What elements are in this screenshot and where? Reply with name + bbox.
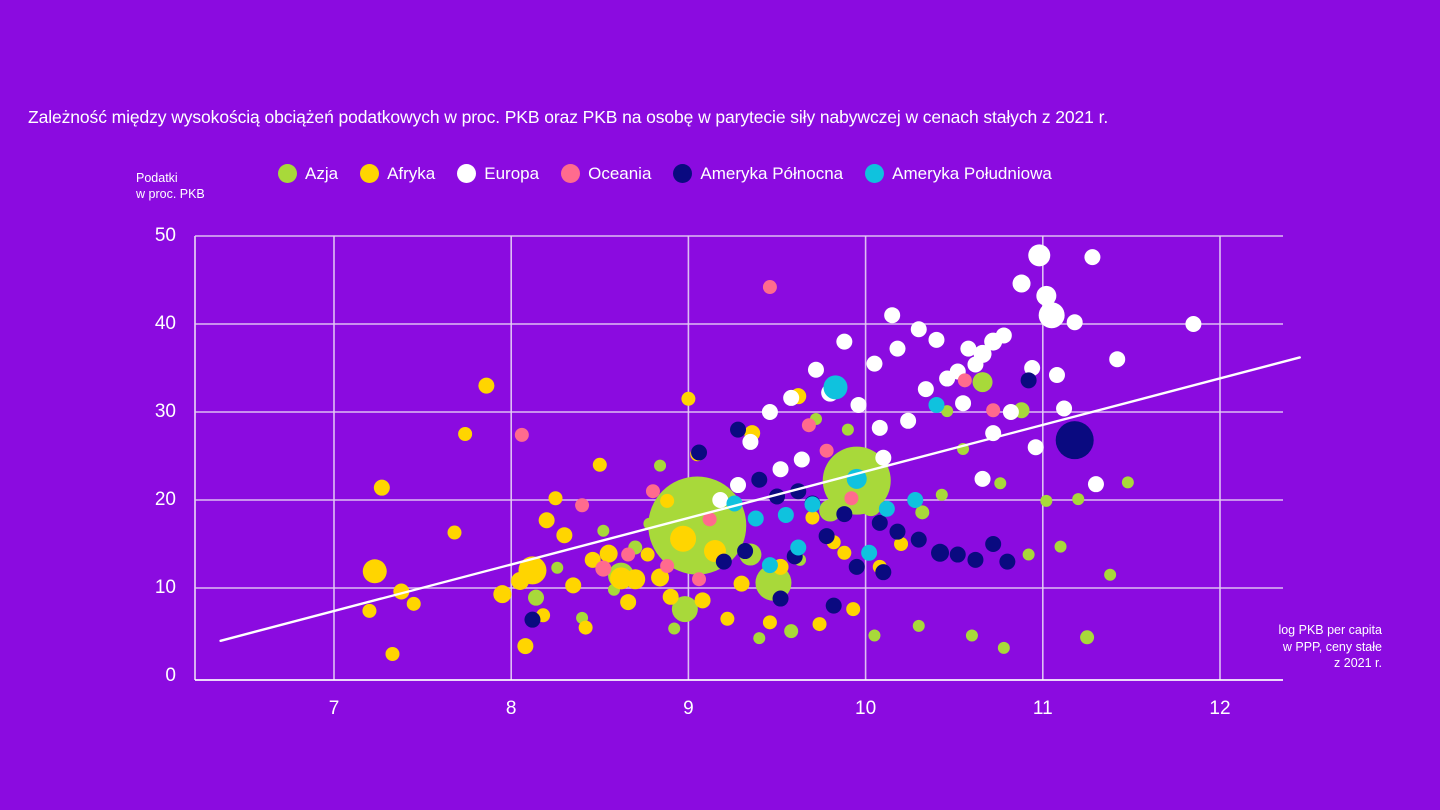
data-point[interactable] bbox=[620, 594, 636, 610]
data-point[interactable] bbox=[939, 371, 955, 387]
data-point[interactable] bbox=[695, 592, 711, 608]
data-point[interactable] bbox=[820, 444, 834, 458]
data-point[interactable] bbox=[911, 532, 927, 548]
data-point[interactable] bbox=[641, 548, 655, 562]
data-point[interactable] bbox=[1003, 404, 1019, 420]
data-point[interactable] bbox=[875, 450, 891, 466]
data-point[interactable] bbox=[1122, 476, 1134, 488]
data-point[interactable] bbox=[681, 392, 695, 406]
data-point[interactable] bbox=[742, 434, 758, 450]
data-point[interactable] bbox=[646, 484, 660, 498]
data-point[interactable] bbox=[813, 617, 827, 631]
data-point[interactable] bbox=[966, 630, 978, 642]
data-point[interactable] bbox=[842, 424, 854, 436]
data-point[interactable] bbox=[1049, 367, 1065, 383]
data-point[interactable] bbox=[808, 362, 824, 378]
data-point[interactable] bbox=[524, 612, 540, 628]
data-point[interactable] bbox=[950, 547, 966, 563]
data-point[interactable] bbox=[866, 356, 882, 372]
data-point[interactable] bbox=[844, 491, 858, 505]
grid-lines bbox=[195, 236, 1283, 680]
data-point[interactable] bbox=[595, 561, 611, 577]
chart-page: Zależność między wysokością obciążeń pod… bbox=[0, 0, 1440, 810]
data-point[interactable] bbox=[600, 545, 618, 563]
data-point[interactable] bbox=[804, 496, 820, 512]
data-point[interactable] bbox=[517, 638, 533, 654]
data-point[interactable] bbox=[790, 540, 806, 556]
data-point[interactable] bbox=[730, 422, 746, 438]
data-point[interactable] bbox=[374, 480, 390, 496]
data-point[interactable] bbox=[999, 554, 1015, 570]
data-point[interactable] bbox=[911, 321, 927, 337]
series-europa bbox=[712, 244, 1201, 508]
data-point[interactable] bbox=[556, 527, 572, 543]
data-point[interactable] bbox=[918, 381, 934, 397]
data-points bbox=[362, 244, 1201, 661]
data-point[interactable] bbox=[879, 501, 895, 517]
data-point[interactable] bbox=[1072, 493, 1084, 505]
data-point[interactable] bbox=[751, 472, 767, 488]
plot-area: 01020304050789101112 bbox=[0, 0, 1440, 810]
data-point[interactable] bbox=[967, 356, 983, 372]
data-point[interactable] bbox=[551, 562, 563, 574]
data-point[interactable] bbox=[936, 489, 948, 501]
x-tick-label-10: 10 bbox=[855, 698, 876, 719]
data-point[interactable] bbox=[528, 590, 544, 606]
data-point[interactable] bbox=[762, 404, 778, 420]
data-point[interactable] bbox=[872, 420, 888, 436]
data-point[interactable] bbox=[958, 373, 972, 387]
axis-tick-labels: 01020304050789101112 bbox=[155, 225, 1231, 719]
data-point[interactable] bbox=[890, 341, 906, 357]
data-point[interactable] bbox=[907, 492, 923, 508]
data-point[interactable] bbox=[565, 577, 581, 593]
scatter-plot-svg: 01020304050789101112 bbox=[0, 0, 1440, 810]
data-point[interactable] bbox=[784, 624, 798, 638]
data-point[interactable] bbox=[549, 491, 563, 505]
data-point[interactable] bbox=[975, 471, 991, 487]
data-point[interactable] bbox=[1067, 314, 1083, 330]
x-tick-label-9: 9 bbox=[683, 698, 694, 719]
data-point[interactable] bbox=[849, 559, 865, 575]
y-tick-label-30: 30 bbox=[155, 401, 176, 422]
data-point[interactable] bbox=[778, 507, 794, 523]
data-point[interactable] bbox=[748, 510, 764, 526]
y-tick-label-40: 40 bbox=[155, 313, 176, 334]
data-point[interactable] bbox=[511, 572, 529, 590]
data-point[interactable] bbox=[884, 307, 900, 323]
data-point[interactable] bbox=[625, 569, 645, 589]
data-point[interactable] bbox=[826, 598, 842, 614]
data-point[interactable] bbox=[1185, 316, 1201, 332]
data-point[interactable] bbox=[1056, 400, 1072, 416]
data-point[interactable] bbox=[385, 647, 399, 661]
data-point[interactable] bbox=[994, 477, 1006, 489]
data-point[interactable] bbox=[763, 280, 777, 294]
data-point[interactable] bbox=[763, 615, 777, 629]
data-point[interactable] bbox=[691, 444, 707, 460]
data-point[interactable] bbox=[597, 525, 609, 537]
data-point[interactable] bbox=[515, 428, 529, 442]
data-point[interactable] bbox=[734, 576, 750, 592]
data-point[interactable] bbox=[712, 492, 728, 508]
data-point[interactable] bbox=[753, 632, 765, 644]
data-point[interactable] bbox=[407, 597, 421, 611]
data-point[interactable] bbox=[802, 418, 816, 432]
data-point[interactable] bbox=[875, 564, 891, 580]
data-point[interactable] bbox=[579, 621, 593, 635]
data-point[interactable] bbox=[986, 403, 1000, 417]
data-point[interactable] bbox=[1056, 421, 1094, 459]
x-tick-label-8: 8 bbox=[506, 698, 517, 719]
data-point[interactable] bbox=[660, 494, 674, 508]
data-point[interactable] bbox=[1013, 275, 1031, 293]
data-point[interactable] bbox=[931, 544, 949, 562]
data-point[interactable] bbox=[363, 559, 387, 583]
data-point[interactable] bbox=[1028, 439, 1044, 455]
trend-line bbox=[221, 357, 1300, 640]
data-point[interactable] bbox=[783, 390, 799, 406]
y-tick-label-0: 0 bbox=[165, 665, 176, 686]
data-point[interactable] bbox=[1028, 244, 1050, 266]
data-point[interactable] bbox=[1039, 302, 1065, 328]
trend-line-path bbox=[221, 357, 1300, 640]
data-point[interactable] bbox=[1055, 541, 1067, 553]
data-point[interactable] bbox=[593, 458, 607, 472]
data-point[interactable] bbox=[668, 622, 680, 634]
data-point[interactable] bbox=[819, 528, 835, 544]
data-point[interactable] bbox=[998, 642, 1010, 654]
data-point[interactable] bbox=[362, 604, 376, 618]
data-point[interactable] bbox=[1040, 495, 1052, 507]
data-point[interactable] bbox=[1023, 549, 1035, 561]
x-tick-label-7: 7 bbox=[329, 698, 340, 719]
y-tick-label-20: 20 bbox=[155, 489, 176, 510]
data-point[interactable] bbox=[692, 572, 706, 586]
data-point[interactable] bbox=[660, 559, 674, 573]
data-point[interactable] bbox=[1084, 249, 1100, 265]
data-point[interactable] bbox=[730, 477, 746, 493]
data-point[interactable] bbox=[973, 372, 993, 392]
data-point[interactable] bbox=[872, 515, 888, 531]
x-tick-label-11: 11 bbox=[1033, 698, 1053, 719]
data-point[interactable] bbox=[621, 548, 635, 562]
data-point[interactable] bbox=[1021, 372, 1037, 388]
data-point[interactable] bbox=[478, 378, 494, 394]
data-point[interactable] bbox=[928, 397, 944, 413]
data-point[interactable] bbox=[955, 395, 971, 411]
data-point[interactable] bbox=[967, 552, 983, 568]
data-point[interactable] bbox=[836, 334, 852, 350]
data-point[interactable] bbox=[458, 427, 472, 441]
data-point[interactable] bbox=[720, 612, 734, 626]
data-point[interactable] bbox=[928, 332, 944, 348]
y-tick-label-50: 50 bbox=[155, 225, 176, 246]
data-point[interactable] bbox=[773, 591, 789, 607]
data-point[interactable] bbox=[985, 536, 1001, 552]
data-point[interactable] bbox=[823, 375, 847, 399]
data-point[interactable] bbox=[1080, 630, 1094, 644]
data-point[interactable] bbox=[851, 397, 867, 413]
data-point[interactable] bbox=[493, 585, 511, 603]
data-point[interactable] bbox=[794, 452, 810, 468]
data-point[interactable] bbox=[1109, 351, 1125, 367]
data-point[interactable] bbox=[773, 461, 789, 477]
data-point[interactable] bbox=[836, 506, 852, 522]
data-point[interactable] bbox=[890, 524, 906, 540]
x-tick-label-12: 12 bbox=[1209, 698, 1230, 719]
data-point[interactable] bbox=[805, 511, 819, 525]
data-point[interactable] bbox=[654, 460, 666, 472]
data-point[interactable] bbox=[837, 546, 851, 560]
data-point[interactable] bbox=[539, 512, 555, 528]
axis-spines bbox=[195, 236, 1283, 680]
data-point[interactable] bbox=[1104, 569, 1116, 581]
data-point[interactable] bbox=[575, 498, 589, 512]
data-point[interactable] bbox=[448, 526, 462, 540]
data-point[interactable] bbox=[737, 543, 753, 559]
data-point[interactable] bbox=[716, 554, 732, 570]
data-point[interactable] bbox=[868, 630, 880, 642]
y-tick-label-10: 10 bbox=[155, 577, 176, 598]
data-point[interactable] bbox=[762, 557, 778, 573]
data-point[interactable] bbox=[861, 496, 881, 516]
data-point[interactable] bbox=[846, 602, 860, 616]
data-point[interactable] bbox=[861, 545, 877, 561]
data-point[interactable] bbox=[670, 526, 696, 552]
data-point[interactable] bbox=[913, 620, 925, 632]
data-point[interactable] bbox=[1088, 476, 1104, 492]
data-point[interactable] bbox=[900, 413, 916, 429]
data-point[interactable] bbox=[663, 589, 679, 605]
